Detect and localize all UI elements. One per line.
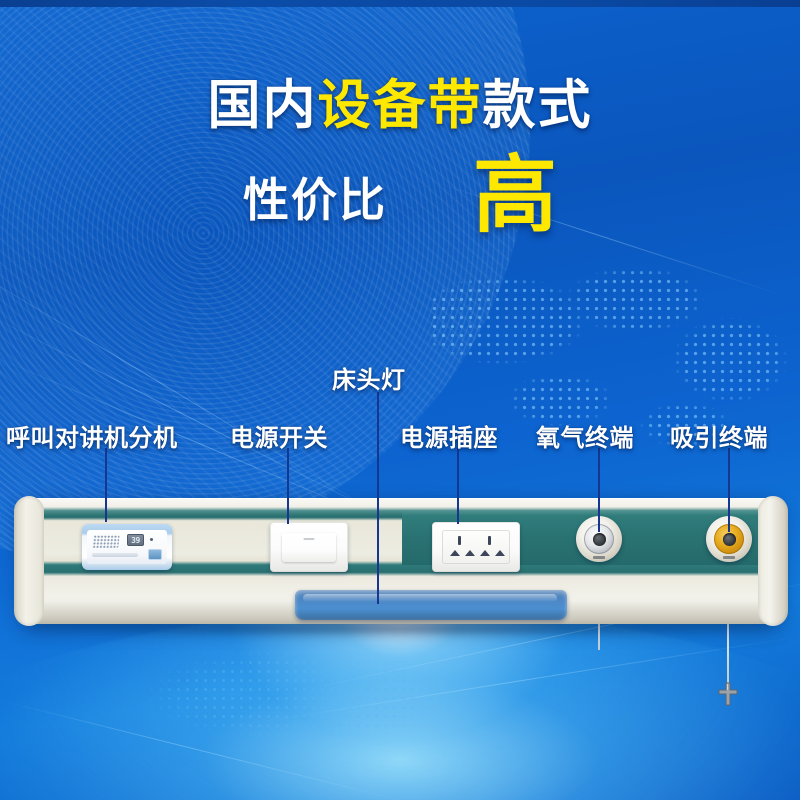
callout-label-bed-lamp: 床头灯 [332, 360, 406, 395]
callout-label-intercom: 呼叫对讲机分机 [6, 418, 178, 453]
top-band [0, 0, 800, 7]
callout-labels: 呼叫对讲机分机 床头灯 电源开关 电源插座 氧气终端 吸引终端 [0, 0, 800, 800]
callout-label-suction: 吸引终端 [670, 418, 768, 453]
callout-label-power-socket: 电源插座 [400, 418, 498, 453]
poster-canvas: 国内设备带款式 性价比 高 呼叫对讲机分机 床头灯 电源开关 电源插座 氧气终端… [0, 0, 800, 800]
callout-label-power-switch: 电源开关 [230, 418, 328, 453]
callout-label-oxygen: 氧气终端 [536, 418, 634, 453]
